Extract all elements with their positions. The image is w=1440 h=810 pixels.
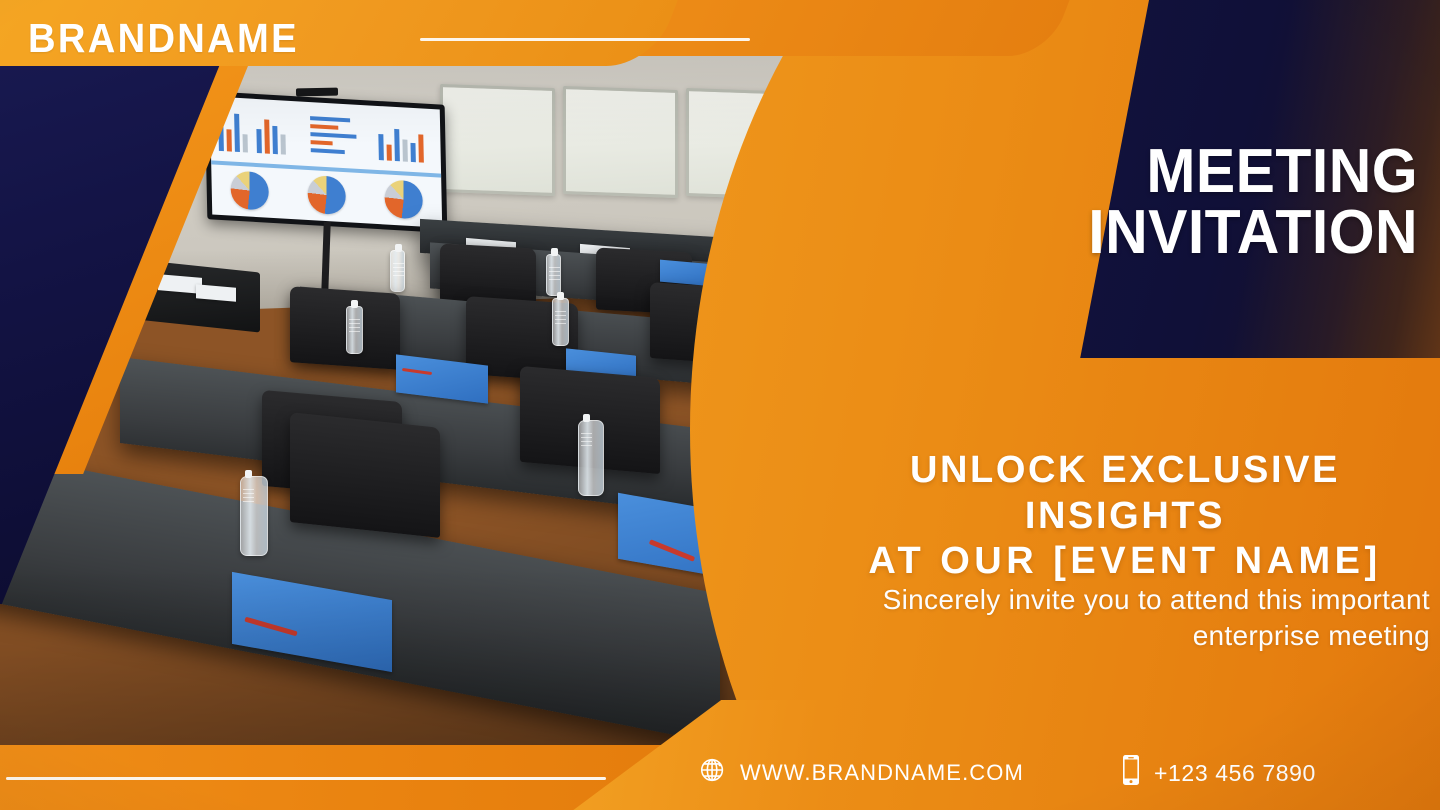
headline-line-2: AT OUR [EVENT NAME] (820, 539, 1430, 585)
meeting-invitation-poster: BRANDNAME MEETING INVITATION UNLOCK EXCL… (0, 0, 1440, 810)
globe-icon (698, 755, 728, 791)
footer-rule (6, 777, 606, 780)
phone-contact[interactable]: +123 456 7890 (1120, 753, 1316, 793)
brand-logo: BRANDNAME (28, 10, 458, 66)
phone-text: +123 456 7890 (1154, 760, 1316, 787)
title-line-1: MEETING (1019, 142, 1418, 203)
headline-line-1: UNLOCK EXCLUSIVE INSIGHTS (820, 448, 1430, 539)
event-headline: UNLOCK EXCLUSIVE INSIGHTS AT OUR [EVENT … (820, 448, 1430, 585)
website-contact[interactable]: WWW.BRANDNAME.COM (698, 755, 1024, 791)
body-line-1: Sincerely invite you to attend this impo… (780, 582, 1430, 618)
invitation-body: Sincerely invite you to attend this impo… (780, 582, 1430, 654)
title-line-2: INVITATION (1019, 203, 1418, 264)
body-line-2: enterprise meeting (780, 618, 1430, 654)
brand-name-text: BRANDNAME (28, 18, 299, 59)
website-text: WWW.BRANDNAME.COM (740, 760, 1024, 786)
smartphone-icon (1120, 753, 1142, 793)
header-rule (420, 38, 750, 41)
poster-title: MEETING INVITATION (998, 142, 1418, 264)
